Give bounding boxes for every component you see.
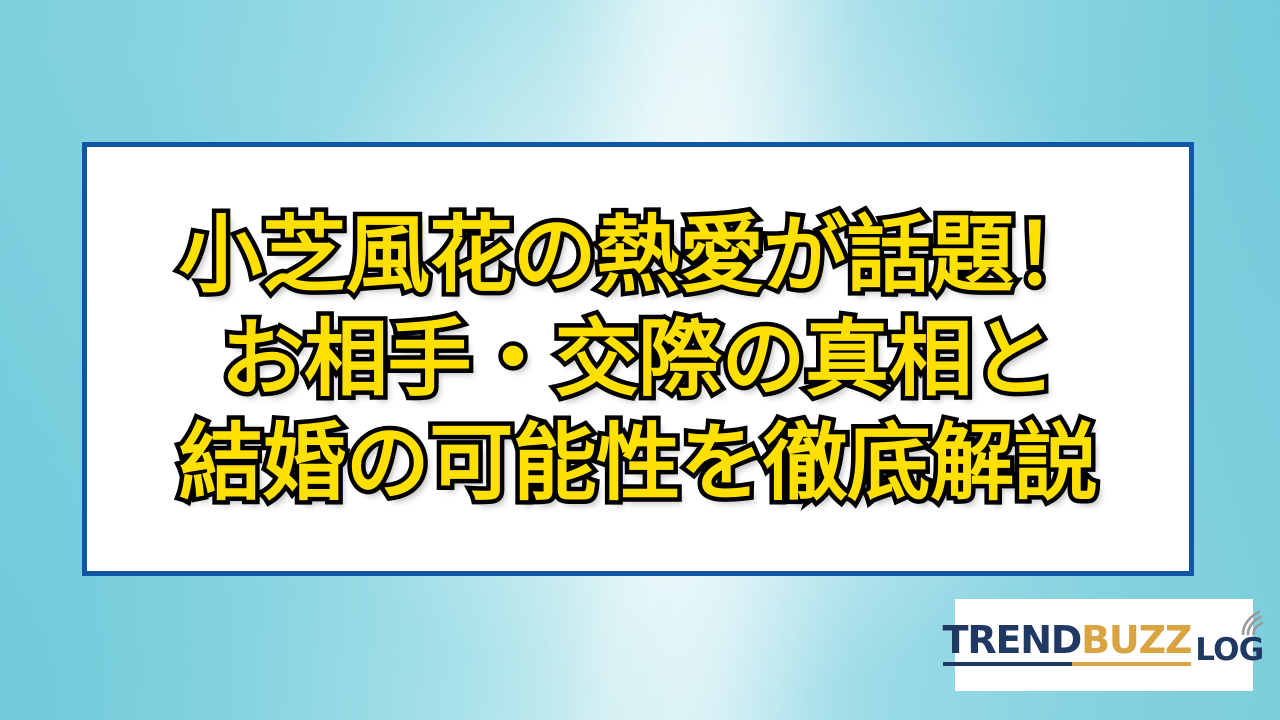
site-logo-badge[interactable]: TREND BUZZ LOG <box>955 599 1253 691</box>
logo-log-wrap: LOG <box>1195 635 1265 666</box>
headline-line-2: お相手・交際の真相と <box>105 307 1171 411</box>
logo-word-buzz: BUZZ <box>1081 621 1191 659</box>
logo-word-log: LOG <box>1195 635 1263 666</box>
headline-card: 小芝風花の熱愛が話題！ お相手・交際の真相と 結婚の可能性を徹底解説 <box>82 142 1194 576</box>
headline-line-1: 小芝風花の熱愛が話題！ <box>105 203 1171 307</box>
logo-underline <box>943 662 1192 666</box>
logo-underline-navy <box>943 662 1072 666</box>
thumbnail-canvas: 小芝風花の熱愛が話題！ お相手・交際の真相と 結婚の可能性を徹底解説 TREND… <box>0 0 1280 720</box>
logo-underline-gold <box>1072 662 1191 666</box>
logo-wordmark-row: TREND BUZZ <box>943 621 1192 659</box>
headline-line-3: 結婚の可能性を徹底解説 <box>105 411 1171 515</box>
logo-wordmark: TREND BUZZ <box>943 621 1192 666</box>
headline-title: 小芝風花の熱愛が話題！ お相手・交際の真相と 結婚の可能性を徹底解説 <box>87 203 1189 515</box>
signal-waves-icon <box>1239 610 1267 636</box>
logo-word-trend: TREND <box>943 621 1082 659</box>
logo-inner: TREND BUZZ LOG <box>943 621 1266 670</box>
